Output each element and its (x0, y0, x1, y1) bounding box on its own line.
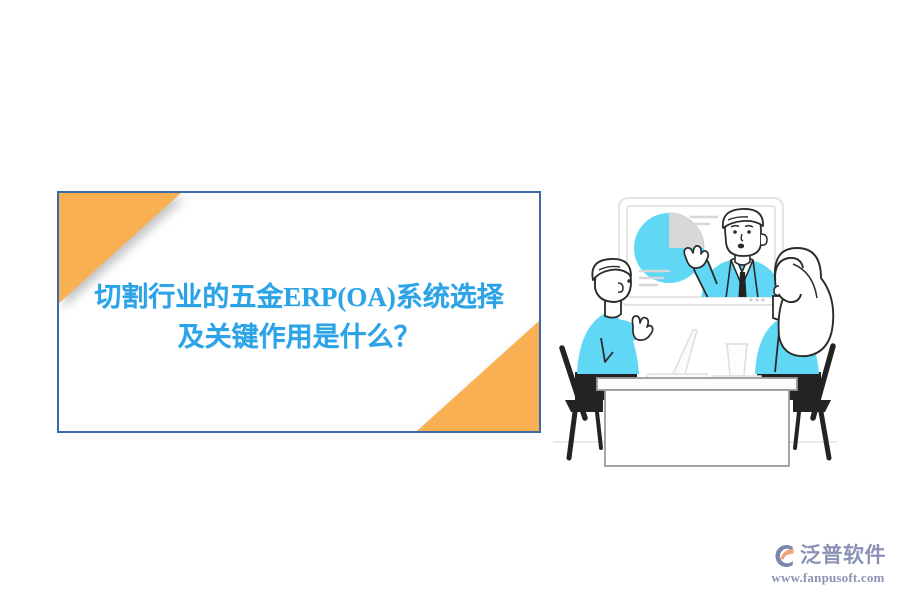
page-title-line-1: 切割行业的五金ERP(OA)系统选择 (59, 277, 539, 317)
laptop (645, 330, 707, 379)
slide-canvas: 切割行业的五金ERP(OA)系统选择 及关键作用是什么？ (0, 0, 900, 600)
title-card-inner: 切割行业的五金ERP(OA)系统选择 及关键作用是什么？ (59, 193, 539, 431)
fanpu-logo-icon (770, 543, 796, 569)
brand-watermark: 泛普软件 www.fanpusoft.com (764, 534, 892, 592)
meeting-illustration-svg (545, 186, 875, 476)
presentation-screen (619, 198, 783, 309)
title-card: 切割行业的五金ERP(OA)系统选择 及关键作用是什么？ (57, 191, 541, 433)
meeting-table (597, 378, 797, 466)
brand-url: www.fanpusoft.com (771, 571, 884, 584)
screen-status-dots (750, 299, 765, 302)
page-title: 切割行业的五金ERP(OA)系统选择 及关键作用是什么？ (59, 277, 539, 357)
drinking-glass (713, 344, 761, 380)
brand-name: 泛普软件 (800, 545, 886, 566)
page-title-line-2: 及关键作用是什么？ (59, 317, 539, 357)
brand-watermark-row: 泛普软件 (770, 543, 886, 569)
meeting-illustration (545, 186, 875, 476)
